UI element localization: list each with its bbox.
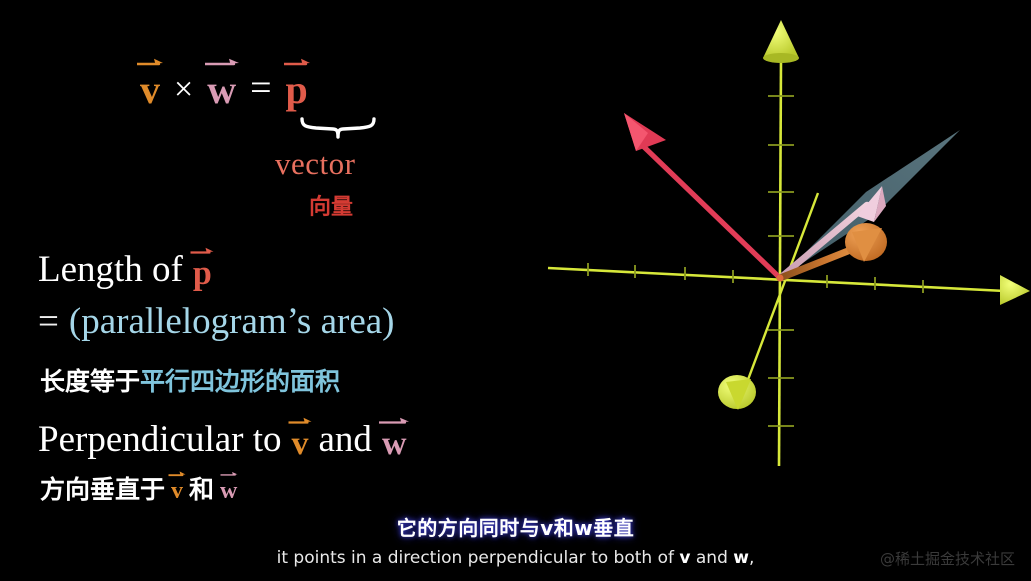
- subtitle-english-bold-w: w: [733, 548, 749, 568]
- perpendicular-chinese-prefix: 方向垂直于: [40, 470, 165, 506]
- formula-vector-v: v: [140, 70, 160, 110]
- subtitle-english-part2: and: [690, 548, 733, 568]
- formula-cross-operator: ×: [174, 73, 193, 110]
- subtitle-chinese: 它的方向同时与v和w垂直: [0, 512, 1031, 541]
- formula-vector-w: w: [207, 70, 236, 110]
- formula-equals-operator: =: [250, 69, 271, 110]
- vector-arrow-icon: [220, 470, 237, 478]
- x-axis-arrowhead: [1000, 275, 1030, 305]
- curly-brace-icon: [300, 117, 376, 139]
- vector-p-arrow: [624, 113, 780, 278]
- perpendicular-prefix-text: Perpendicular to: [38, 418, 282, 461]
- cross-product-formula: v × w = p: [140, 55, 420, 110]
- subtitle-english-part3: ,: [749, 548, 754, 568]
- formula-w-label: w: [207, 67, 236, 112]
- watermark-text: @稀土掘金技术社区: [880, 548, 1015, 569]
- perpendicular-chinese-conjunction: 和: [189, 470, 214, 506]
- y-axis-arrowhead: [763, 20, 799, 58]
- perpendicular-vector-w: w: [382, 427, 407, 461]
- three-d-axes-svg: [530, 0, 1031, 510]
- length-chinese-highlight: 平行四边形的面积: [140, 367, 340, 396]
- y-axis: [763, 20, 799, 466]
- length-statement-line1: Length of p: [38, 248, 212, 291]
- length-p-label: p: [193, 255, 212, 292]
- perpendicular-statement-chinese: 方向垂直于 v 和 w: [40, 470, 237, 506]
- perpendicular-chinese-vector-v: v: [171, 479, 183, 503]
- perpendicular-chinese-v-label: v: [171, 478, 183, 504]
- formula-v-label: v: [140, 67, 160, 112]
- length-vector-p: p: [193, 257, 212, 291]
- perpendicular-chinese-w-label: w: [220, 478, 237, 504]
- formula-vector-p: p: [286, 70, 308, 110]
- perpendicular-vector-v: v: [292, 427, 309, 461]
- perpendicular-statement-line: Perpendicular to v and w: [38, 418, 407, 461]
- subtitle-english-part1: it points in a direction perpendicular t…: [277, 548, 680, 568]
- video-frame: v × w = p vector 向量 Length of: [0, 0, 1031, 581]
- length-statement-line2: = (parallelogram’s area): [38, 300, 395, 343]
- formula-p-label: p: [286, 67, 308, 112]
- parallelogram-area-text: (parallelogram’s area): [69, 300, 395, 343]
- z-axis-arrowhead: [718, 375, 756, 410]
- subtitle-english: it points in a direction perpendicular t…: [0, 548, 1031, 568]
- length-statement-chinese: 长度等于平行四边形的面积: [40, 362, 340, 398]
- perpendicular-w-label: w: [382, 425, 407, 462]
- perpendicular-chinese-vector-w: w: [220, 479, 237, 503]
- subtitle-english-bold-v: v: [679, 548, 690, 568]
- origin-point: [777, 275, 784, 282]
- vector-arrow-icon: [169, 470, 186, 478]
- length-equals-sign: =: [38, 300, 59, 343]
- underbrace: [300, 117, 376, 139]
- three-d-vector-scene: [530, 0, 1031, 510]
- vector-annotation-chinese: 向量: [309, 189, 353, 221]
- length-chinese-prefix: 长度等于: [40, 367, 140, 396]
- perpendicular-conjunction: and: [319, 418, 372, 461]
- vector-annotation-english: vector: [275, 146, 355, 182]
- perpendicular-v-label: v: [292, 425, 309, 462]
- length-prefix-text: Length of: [38, 248, 183, 291]
